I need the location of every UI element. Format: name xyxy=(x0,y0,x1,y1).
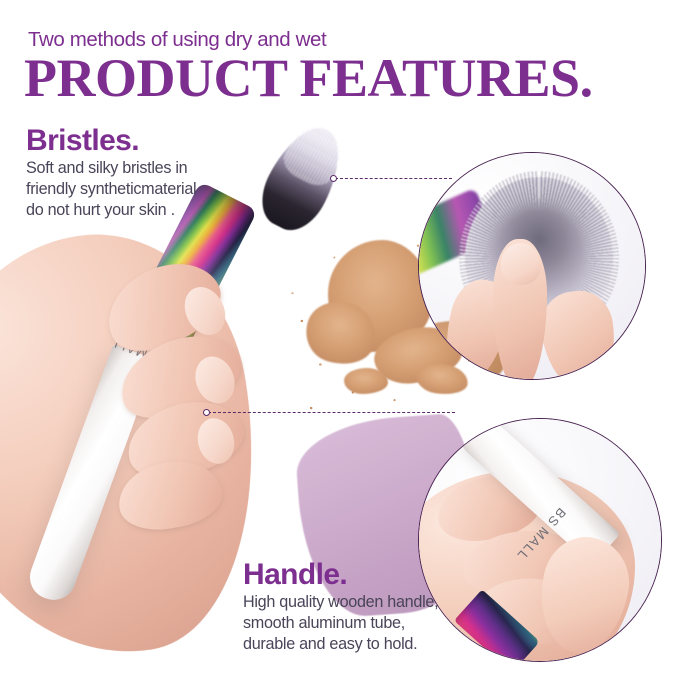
inset-photo-bristles xyxy=(418,152,646,380)
feature-body-line: High quality wooden handle, xyxy=(243,592,438,613)
feature-body-handle: High quality wooden handle, smooth alumi… xyxy=(243,592,438,655)
feature-body-line: do not hurt your skin . xyxy=(26,200,196,221)
fingernail xyxy=(501,243,541,285)
callout-dashed-line xyxy=(335,178,452,179)
feature-title-handle: Handle. xyxy=(243,558,438,592)
page-title: PRODUCT FEATURES. xyxy=(24,50,593,106)
feature-body-bristles: Soft and silky bristles in friendly synt… xyxy=(26,158,196,221)
callout-connector-bristles xyxy=(330,178,452,179)
callout-dashed-line xyxy=(208,412,455,413)
feature-body-line: Soft and silky bristles in xyxy=(26,158,196,179)
feature-block-bristles: Bristles. Soft and silky bristles in fri… xyxy=(26,124,196,221)
feature-body-line: durable and easy to hold. xyxy=(243,634,438,655)
feature-body-line: smooth aluminum tube, xyxy=(243,613,438,634)
product-feature-infographic: BS-MALL BS MALL xyxy=(0,0,679,679)
feature-block-handle: Handle. High quality wooden handle, smoo… xyxy=(243,558,438,655)
feature-body-line: friendly syntheticmaterial xyxy=(26,179,196,200)
callout-connector-handle xyxy=(203,412,455,413)
powder-blob xyxy=(344,368,388,394)
callout-dot-marker xyxy=(330,175,337,182)
feature-title-bristles: Bristles. xyxy=(26,124,196,158)
inset-photo-handle: BS MALL xyxy=(418,418,662,662)
callout-dot-marker xyxy=(203,409,210,416)
